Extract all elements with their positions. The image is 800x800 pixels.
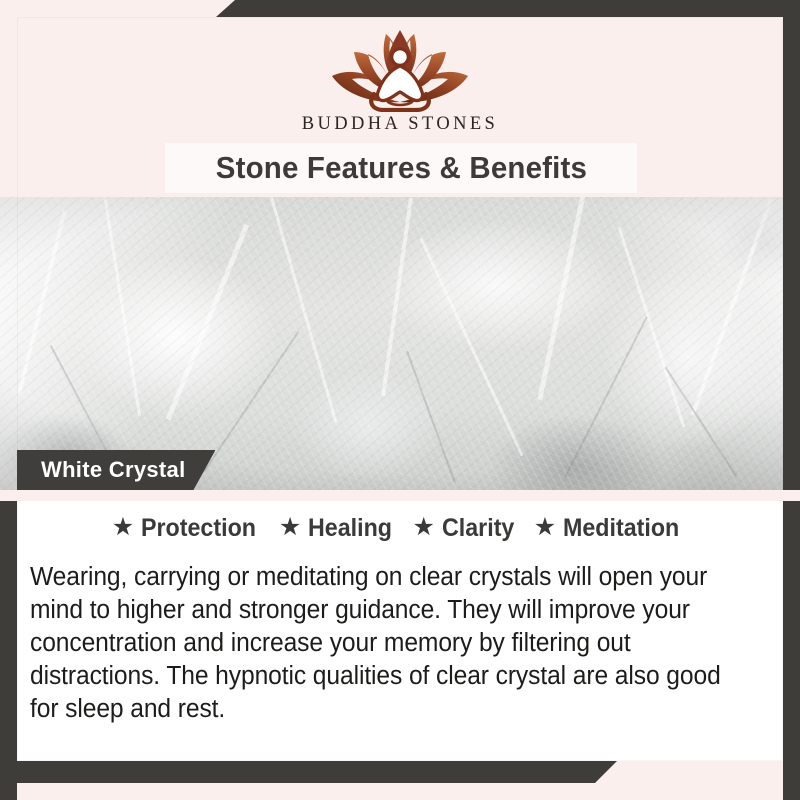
stone-name: White Crystal (41, 457, 185, 483)
bottom-frame-bar (0, 761, 617, 783)
benefit-label: Clarity (442, 514, 514, 543)
benefit-item-meditation: ★ Meditation (534, 514, 688, 543)
benefit-item-healing: ★ Healing (279, 514, 399, 543)
brand-logo: BUDDHA STONES (0, 24, 800, 135)
page-title: Stone Features & Benefits (215, 150, 586, 186)
brand-name: BUDDHA STONES (0, 114, 800, 135)
stone-name-tag: White Crystal (17, 450, 215, 490)
top-frame-bar (216, 0, 800, 17)
photo-vignette (0, 197, 800, 490)
star-icon: ★ (112, 515, 134, 540)
benefit-item-clarity: ★ Clarity (413, 514, 520, 543)
stone-benefits-poster: BUDDHA STONES Stone Features & Benefits … (0, 0, 800, 800)
star-icon: ★ (413, 515, 435, 540)
white-crystal-cluster-photo (0, 197, 800, 490)
left-frame-bar (0, 500, 17, 800)
star-icon: ★ (534, 515, 556, 540)
content-panel: ★ Protection ★ Healing ★ Clarity ★ Medit… (0, 501, 800, 761)
benefit-item-protection: ★ Protection (112, 514, 265, 543)
title-banner: Stone Features & Benefits (165, 143, 637, 193)
benefits-row: ★ Protection ★ Healing ★ Clarity ★ Medit… (0, 514, 800, 543)
star-icon: ★ (279, 515, 301, 540)
benefit-label: Healing (308, 514, 392, 543)
stone-description: Wearing, carrying or meditating on clear… (30, 561, 744, 726)
photo-seam-strip (0, 490, 800, 501)
benefit-label: Protection (141, 514, 256, 543)
right-frame-bar (783, 0, 800, 800)
lotus-meditation-icon (310, 24, 490, 112)
benefit-label: Meditation (563, 514, 679, 543)
